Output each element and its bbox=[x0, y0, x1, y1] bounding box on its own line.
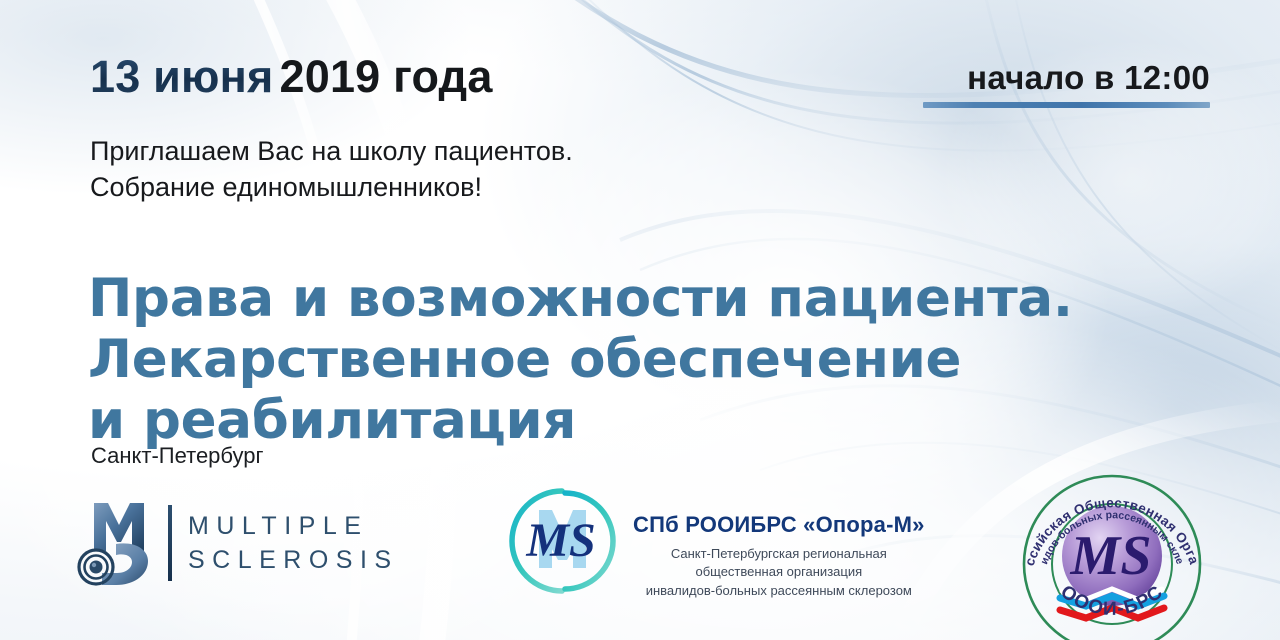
event-banner: 13 июня2019 года начало в 12:00 Приглаша… bbox=[0, 0, 1280, 640]
spb-ms-monogram-icon: MS bbox=[503, 482, 621, 600]
spb-text-block: СПб РООИБРС «Опора-М» Санкт-Петербургска… bbox=[633, 482, 925, 600]
ms-wordmark-line2: SCLEROSIS bbox=[188, 543, 399, 578]
start-time-label: начало в 12:00 bbox=[923, 60, 1210, 96]
logo-multiple-sclerosis: MULTIPLE SCLEROSIS bbox=[72, 497, 399, 589]
start-time-block: начало в 12:00 bbox=[923, 60, 1210, 108]
event-date: 13 июня2019 года bbox=[90, 54, 493, 99]
ms-wordmark-line1: MULTIPLE bbox=[188, 509, 399, 544]
event-date-year: 2019 года bbox=[280, 51, 493, 102]
ms-monogram-icon bbox=[72, 497, 164, 589]
logo-ooooi-brs-seal: MS Общероссийская Общественная Организац… bbox=[1014, 460, 1210, 640]
event-date-day: 13 июня bbox=[90, 51, 274, 102]
start-time-underline bbox=[923, 102, 1210, 108]
invitation-text: Приглашаем Вас на школу пациентов. Собра… bbox=[90, 134, 573, 205]
spb-title: СПб РООИБРС «Опора-М» bbox=[633, 512, 925, 538]
page-title: Права и возможности пациента. Лекарствен… bbox=[88, 268, 1073, 452]
logo-divider bbox=[168, 505, 172, 581]
ms-wordmark: MULTIPLE SCLEROSIS bbox=[188, 509, 399, 578]
city-label: Санкт-Петербург bbox=[91, 443, 264, 469]
logo-spb-rooibrs: MS СПб РООИБРС «Опора-М» Санкт-Петербург… bbox=[503, 482, 925, 600]
svg-text:MS: MS bbox=[525, 514, 595, 567]
seal-monogram: MS bbox=[1070, 525, 1152, 587]
spb-subtitle: Санкт-Петербургская региональная обществ… bbox=[633, 545, 925, 600]
